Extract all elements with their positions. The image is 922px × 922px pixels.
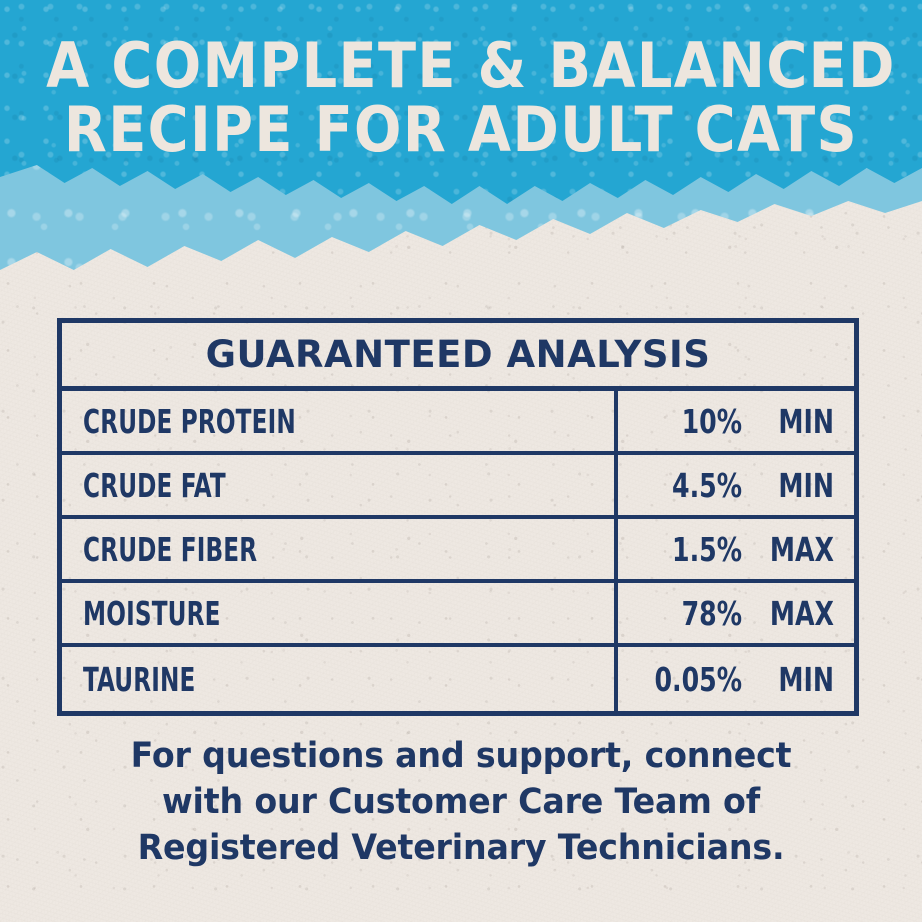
- customer-care-note-line-2: with our Customer Care Team of: [23, 779, 899, 825]
- headline-line-2: RECIPE FOR ADULT CATS: [46, 98, 876, 162]
- nutrient-amount: 10%: [642, 402, 742, 441]
- nutrient-value-cell: 0.05% MIN: [614, 647, 854, 711]
- headline: A COMPLETE & BALANCED RECIPE FOR ADULT C…: [46, 34, 876, 162]
- table-row: MOISTURE 78% MAX: [62, 583, 854, 647]
- nutrient-amount: 78%: [642, 594, 742, 633]
- nutrient-qualifier: MIN: [756, 660, 834, 699]
- nutrient-value-cell: 1.5% MAX: [614, 519, 854, 579]
- nutrient-label: CRUDE PROTEIN: [62, 391, 493, 451]
- nutrient-value-cell: 78% MAX: [614, 583, 854, 643]
- customer-care-note: For questions and support, connect with …: [23, 733, 899, 871]
- nutrient-label: MOISTURE: [62, 583, 493, 643]
- guaranteed-analysis-table: GUARANTEED ANALYSIS CRUDE PROTEIN 10% MI…: [57, 318, 859, 716]
- pet-food-label-panel: A COMPLETE & BALANCED RECIPE FOR ADULT C…: [0, 0, 922, 922]
- guaranteed-analysis-title: GUARANTEED ANALYSIS: [62, 323, 854, 391]
- headline-line-1: A COMPLETE & BALANCED: [46, 34, 876, 98]
- customer-care-note-line-3: Registered Veterinary Technicians.: [23, 825, 899, 871]
- nutrient-qualifier: MIN: [756, 466, 834, 505]
- nutrient-value-cell: 10% MIN: [614, 391, 854, 451]
- table-row: CRUDE FIBER 1.5% MAX: [62, 519, 854, 583]
- nutrient-qualifier: MAX: [756, 530, 834, 569]
- nutrient-amount: 0.05%: [642, 660, 742, 699]
- nutrient-label: CRUDE FAT: [62, 455, 493, 515]
- table-row: TAURINE 0.05% MIN: [62, 647, 854, 711]
- nutrient-value-cell: 4.5% MIN: [614, 455, 854, 515]
- table-row: CRUDE FAT 4.5% MIN: [62, 455, 854, 519]
- nutrient-qualifier: MAX: [756, 594, 834, 633]
- table-row: CRUDE PROTEIN 10% MIN: [62, 391, 854, 455]
- nutrient-amount: 4.5%: [642, 466, 742, 505]
- customer-care-note-line-1: For questions and support, connect: [23, 733, 899, 779]
- nutrient-label: CRUDE FIBER: [62, 519, 493, 579]
- nutrient-amount: 1.5%: [642, 530, 742, 569]
- nutrient-qualifier: MIN: [756, 402, 834, 441]
- nutrient-label: TAURINE: [62, 647, 493, 711]
